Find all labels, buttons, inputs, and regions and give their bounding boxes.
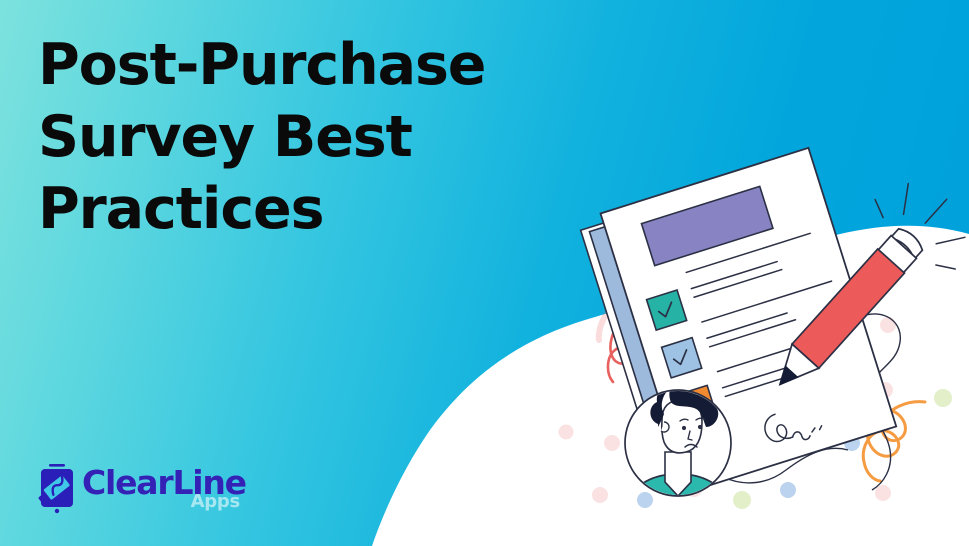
decorative-dots: [559, 317, 953, 509]
orange-squiggle: [863, 402, 925, 481]
red-squiggle: [599, 313, 630, 382]
document-header-block: [641, 186, 772, 265]
logo-wordmark: ClearLine Apps: [82, 462, 246, 499]
phone-squeegee-icon: [36, 462, 78, 514]
red-pencil: [741, 164, 969, 420]
checkbox-blue: [662, 338, 702, 378]
document-text-lines: [686, 232, 855, 397]
customer-avatar: [625, 380, 731, 526]
checkbox-teal: [647, 290, 687, 330]
page-title-line-2: Practices: [38, 176, 323, 242]
checkbox-orange: [677, 385, 717, 425]
signature-scribble: [761, 402, 824, 451]
brand-logo[interactable]: ClearLine Apps: [36, 462, 246, 514]
pencil-spark-lines: [870, 164, 969, 277]
thin-wave-line: [723, 314, 900, 490]
page-title: Post-Purchase Survey Best Practices: [38, 30, 638, 245]
logo-tagline: Apps: [191, 493, 240, 511]
slide-canvas: Post-Purchase Survey Best Practices Clea…: [0, 0, 969, 546]
page-title-line-1: Post-Purchase Survey Best: [38, 32, 485, 170]
